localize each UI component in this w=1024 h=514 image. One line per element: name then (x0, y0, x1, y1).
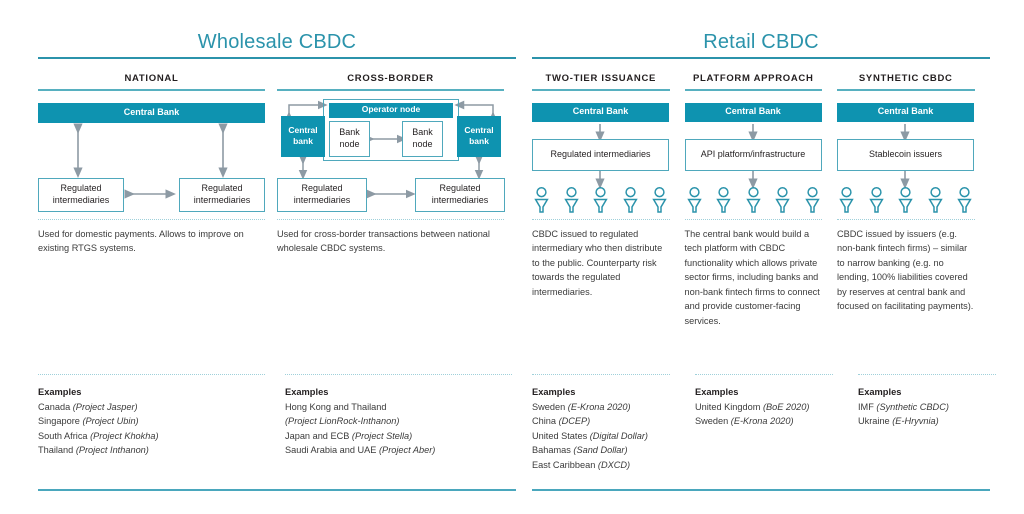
example-country: Japan and ECB (285, 431, 349, 441)
example-item: Japan and ECB (Project Stella) (285, 429, 515, 444)
example-country: IMF (858, 402, 874, 412)
examples-title: Examples (695, 385, 845, 400)
column-head-national: NATIONAL (38, 59, 265, 89)
cbdc-taxonomy-diagram: Wholesale CBDC NATIONAL Central Bank (0, 0, 1024, 514)
column-synthetic-cbdc: SYNTHETIC CBDC Central Bank (837, 59, 990, 329)
column-rule-two-tier-issuance (532, 89, 670, 91)
two-tier-people-row (534, 187, 667, 218)
separator-dotted-examples-two-tier (532, 374, 670, 375)
synthetic-middle-box: Stablecoin issuers (837, 139, 974, 171)
example-item: United Kingdom (BoE 2020) (695, 400, 845, 415)
column-head-two-tier-issuance: TWO-TIER ISSUANCE (532, 59, 670, 89)
bottom-rule-retail (532, 489, 990, 491)
two-tier-central-bank-box: Central Bank (532, 103, 669, 122)
example-project: (E-Hryvnia) (892, 416, 938, 426)
example-project: (Project Ubin) (82, 416, 138, 426)
example-item: Canada (Project Jasper) (38, 400, 268, 415)
column-rule-synthetic-cbdc (837, 89, 975, 91)
examples-title: Examples (858, 385, 1008, 400)
group-retail: Retail CBDC TWO-TIER ISSUANCE Central Ba… (532, 0, 990, 329)
synthetic-central-bank-box: Central Bank (837, 103, 974, 122)
national-regulated-right-box: Regulated intermediaries (179, 178, 265, 212)
example-country: Singapore (38, 416, 80, 426)
person-icon (623, 187, 638, 218)
example-country: East Caribbean (532, 460, 595, 470)
column-rule-platform-approach (685, 89, 823, 91)
diagram-platform-approach: Central Bank API platform/infrastructure (685, 99, 823, 219)
national-regulated-left-box: Regulated intermediaries (38, 178, 124, 212)
person-icon (805, 187, 820, 218)
column-cross-border: CROSS-BORDER (277, 59, 516, 256)
examples-cross-border: Examples Hong Kong and Thailand (Project… (285, 385, 515, 458)
example-item: Hong Kong and Thailand (285, 400, 515, 415)
example-country: China (532, 416, 556, 426)
description-national: Used for domestic payments. Allows to im… (38, 220, 265, 256)
example-project: (DXCD) (598, 460, 630, 470)
example-project: (Digital Dollar) (590, 431, 648, 441)
examples-title: Examples (285, 385, 515, 400)
wholesale-columns: NATIONAL Central Bank (38, 59, 516, 256)
separator-dotted-examples-synthetic (858, 374, 996, 375)
person-icon (564, 187, 579, 218)
diagram-cross-border: Operator node Bank node Bank node Centra… (277, 99, 504, 219)
diagram-synthetic-cbdc: Central Bank Stablecoin issuers (837, 99, 975, 219)
person-icon (869, 187, 884, 218)
examples-title: Examples (532, 385, 682, 400)
person-icon (775, 187, 790, 218)
example-project: (E-Krona 2020) (731, 416, 794, 426)
separator-dotted-examples-national (38, 374, 265, 375)
example-country: South Africa (38, 431, 88, 441)
column-platform-approach: PLATFORM APPROACH Central Bank (685, 59, 838, 329)
example-item: Sweden (E-Krona 2020) (695, 414, 845, 429)
column-head-synthetic-cbdc: SYNTHETIC CBDC (837, 59, 975, 89)
person-icon (928, 187, 943, 218)
examples-national: Examples Canada (Project Jasper) Singapo… (38, 385, 268, 458)
example-project: (Project Inthanon) (76, 445, 149, 455)
example-project: (Project Khokha) (90, 431, 158, 441)
example-project: (Project LionRock-Inthanon) (285, 416, 399, 426)
cross-border-regulated-left-box: Regulated intermediaries (277, 178, 367, 212)
person-icon (898, 187, 913, 218)
example-item: South Africa (Project Khokha) (38, 429, 268, 444)
example-country: Sweden (695, 416, 728, 426)
example-project: (Project Stella) (352, 431, 412, 441)
bottom-rule-wholesale (38, 489, 516, 491)
description-cross-border: Used for cross-border transactions betwe… (277, 220, 504, 256)
separator-dotted-examples-platform (695, 374, 833, 375)
example-country: United States (532, 431, 587, 441)
examples-two-tier-issuance: Examples Sweden (E-Krona 2020) China (DC… (532, 385, 682, 473)
cross-border-central-bank-right-box: Central bank (457, 116, 501, 157)
person-icon (534, 187, 549, 218)
example-item: East Caribbean (DXCD) (532, 458, 682, 473)
example-item: Bahamas (Sand Dollar) (532, 443, 682, 458)
example-project: (Sand Dollar) (573, 445, 627, 455)
description-two-tier-issuance: CBDC issued to regulated intermediary wh… (532, 220, 670, 300)
example-country: United Kingdom (695, 402, 760, 412)
example-project: (DCEP) (559, 416, 591, 426)
platform-central-bank-box: Central Bank (685, 103, 822, 122)
retail-columns: TWO-TIER ISSUANCE Central Bank (532, 59, 990, 329)
diagram-national: Central Bank (38, 99, 265, 219)
column-head-cross-border: CROSS-BORDER (277, 59, 504, 89)
example-project: (Synthetic CBDC) (876, 402, 949, 412)
example-item: Saudi Arabia and UAE (Project Aber) (285, 443, 515, 458)
example-country: Hong Kong and Thailand (285, 402, 386, 412)
example-item: Singapore (Project Ubin) (38, 414, 268, 429)
description-synthetic-cbdc: CBDC issued by issuers (e.g. non-bank fi… (837, 220, 975, 315)
example-country: Thailand (38, 445, 73, 455)
cross-border-regulated-right-box: Regulated intermediaries (415, 178, 505, 212)
example-country: Ukraine (858, 416, 890, 426)
column-national: NATIONAL Central Bank (38, 59, 277, 256)
person-icon (716, 187, 731, 218)
column-head-platform-approach: PLATFORM APPROACH (685, 59, 823, 89)
person-icon (652, 187, 667, 218)
column-rule-cross-border (277, 89, 504, 91)
person-icon (839, 187, 854, 218)
synthetic-people-row (839, 187, 972, 218)
example-item: Ukraine (E-Hryvnia) (858, 414, 1008, 429)
examples-synthetic-cbdc: Examples IMF (Synthetic CBDC) Ukraine (E… (858, 385, 1008, 429)
example-country: Sweden (532, 402, 565, 412)
examples-title: Examples (38, 385, 268, 400)
example-item: Sweden (E-Krona 2020) (532, 400, 682, 415)
person-icon (593, 187, 608, 218)
two-tier-middle-box: Regulated intermediaries (532, 139, 669, 171)
group-title-retail: Retail CBDC (532, 0, 990, 56)
examples-platform-approach: Examples United Kingdom (BoE 2020) Swede… (695, 385, 845, 429)
operator-node-box: Operator node (329, 103, 453, 118)
national-central-bank-box: Central Bank (38, 103, 265, 123)
example-country: Bahamas (532, 445, 571, 455)
example-item: United States (Digital Dollar) (532, 429, 682, 444)
group-wholesale: Wholesale CBDC NATIONAL Central Bank (38, 0, 516, 256)
example-project: (BoE 2020) (763, 402, 809, 412)
example-project: (Project Jasper) (73, 402, 138, 412)
example-project: (Project Aber) (379, 445, 435, 455)
person-icon (957, 187, 972, 218)
column-rule-national (38, 89, 265, 91)
person-icon (746, 187, 761, 218)
example-country: Saudi Arabia and UAE (285, 445, 376, 455)
platform-middle-box: API platform/infrastructure (685, 139, 822, 171)
cross-border-central-bank-left-box: Central bank (281, 116, 325, 157)
group-title-wholesale: Wholesale CBDC (38, 0, 516, 56)
bank-node-left-box: Bank node (329, 121, 370, 157)
diagram-two-tier-issuance: Central Bank Regulated intermediaries (532, 99, 670, 219)
example-item: (Project LionRock-Inthanon) (285, 414, 515, 429)
example-item: Thailand (Project Inthanon) (38, 443, 268, 458)
description-platform-approach: The central bank would build a tech plat… (685, 220, 823, 329)
example-item: IMF (Synthetic CBDC) (858, 400, 1008, 415)
separator-dotted-examples-cross-border (285, 374, 512, 375)
bank-node-right-box: Bank node (402, 121, 443, 157)
example-project: (E-Krona 2020) (568, 402, 631, 412)
example-item: China (DCEP) (532, 414, 682, 429)
example-country: Canada (38, 402, 70, 412)
column-two-tier-issuance: TWO-TIER ISSUANCE Central Bank (532, 59, 685, 329)
platform-people-row (687, 187, 820, 218)
person-icon (687, 187, 702, 218)
